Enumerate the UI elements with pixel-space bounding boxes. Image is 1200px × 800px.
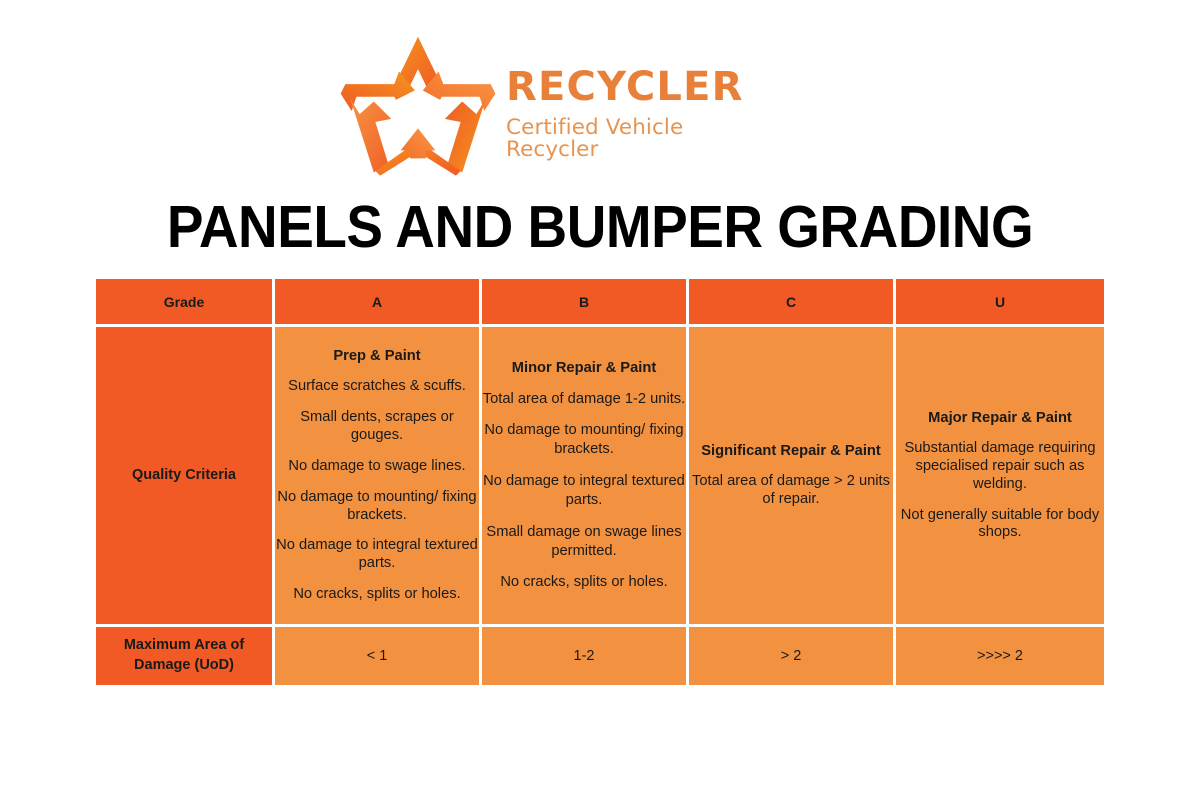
criteria-a-line-4: No damage to mounting/ fixing brackets. (275, 489, 479, 525)
header-cell-grade-c: C (689, 279, 896, 327)
criteria-a-line-1: Surface scratches & scuffs. (275, 378, 479, 396)
poster-page: RECYCLER Certified Vehicle Recycler PANE… (0, 0, 1200, 800)
criteria-b-line-5: No cracks, splits or holes. (482, 573, 686, 592)
criteria-a-line-6: No cracks, splits or holes. (275, 586, 479, 604)
maxarea-value-grade-u: >>>> 2 (896, 627, 1104, 685)
logo-wordmark-group: RECYCLER Certified Vehicle Recycler (506, 67, 768, 160)
criteria-c-heading: Significant Repair & Paint (689, 442, 893, 461)
criteria-cell-grade-b: Minor Repair & Paint Total area of damag… (482, 327, 689, 627)
header-cell-grade: Grade (96, 279, 275, 327)
brand-logo: RECYCLER Certified Vehicle Recycler (338, 28, 768, 183)
criteria-a-line-3: No damage to swage lines. (275, 458, 479, 476)
header-cell-grade-b: B (482, 279, 689, 327)
maxarea-value-grade-a: < 1 (275, 627, 482, 685)
table-row-maximum-area-of-damage: Maximum Area of Damage (UoD) < 1 1-2 > 2… (96, 627, 1104, 685)
criteria-b-line-3: No damage to integral textured parts. (482, 472, 686, 510)
criteria-cell-grade-a: Prep & Paint Surface scratches & scuffs.… (275, 327, 482, 627)
criteria-a-heading: Prep & Paint (275, 347, 479, 366)
table-row-quality-criteria: Quality Criteria Prep & Paint Surface sc… (96, 327, 1104, 627)
logo-tagline: Certified Vehicle Recycler (506, 117, 768, 160)
criteria-c-line-1: Total area of damage > 2 units of repair… (689, 473, 893, 509)
logo-wordmark: RECYCLER (506, 67, 768, 107)
criteria-cell-grade-u: Major Repair & Paint Substantial damage … (896, 327, 1104, 627)
row-label-quality-criteria: Quality Criteria (96, 327, 275, 627)
maxarea-value-grade-c: > 2 (689, 627, 896, 685)
criteria-b-line-4: Small damage on swage lines permitted. (482, 523, 686, 561)
criteria-a-line-5: No damage to integral textured parts. (275, 537, 479, 573)
criteria-b-line-2: No damage to mounting/ fixing brackets. (482, 421, 686, 459)
header-cell-grade-u: U (896, 279, 1104, 327)
page-title: PANELS AND BUMPER GRADING (42, 193, 1158, 261)
criteria-u-line-2: Not generally suitable for body shops. (896, 507, 1104, 543)
table-header-row: Grade A B C U (96, 279, 1104, 327)
criteria-u-line-1: Substantial damage requiring specialised… (896, 440, 1104, 494)
maxarea-value-grade-b: 1-2 (482, 627, 689, 685)
grading-table: Grade A B C U Quality Criteria Prep & Pa… (96, 279, 1104, 685)
criteria-b-heading: Minor Repair & Paint (482, 359, 686, 378)
row-label-maximum-area-of-damage: Maximum Area of Damage (UoD) (96, 627, 275, 685)
criteria-u-heading: Major Repair & Paint (896, 409, 1104, 428)
criteria-b-line-1: Total area of damage 1-2 units. (482, 390, 686, 409)
recycling-star-icon (338, 32, 498, 182)
criteria-a-line-2: Small dents, scrapes or gouges. (275, 409, 479, 445)
header-cell-grade-a: A (275, 279, 482, 327)
criteria-cell-grade-c: Significant Repair & Paint Total area of… (689, 327, 896, 627)
